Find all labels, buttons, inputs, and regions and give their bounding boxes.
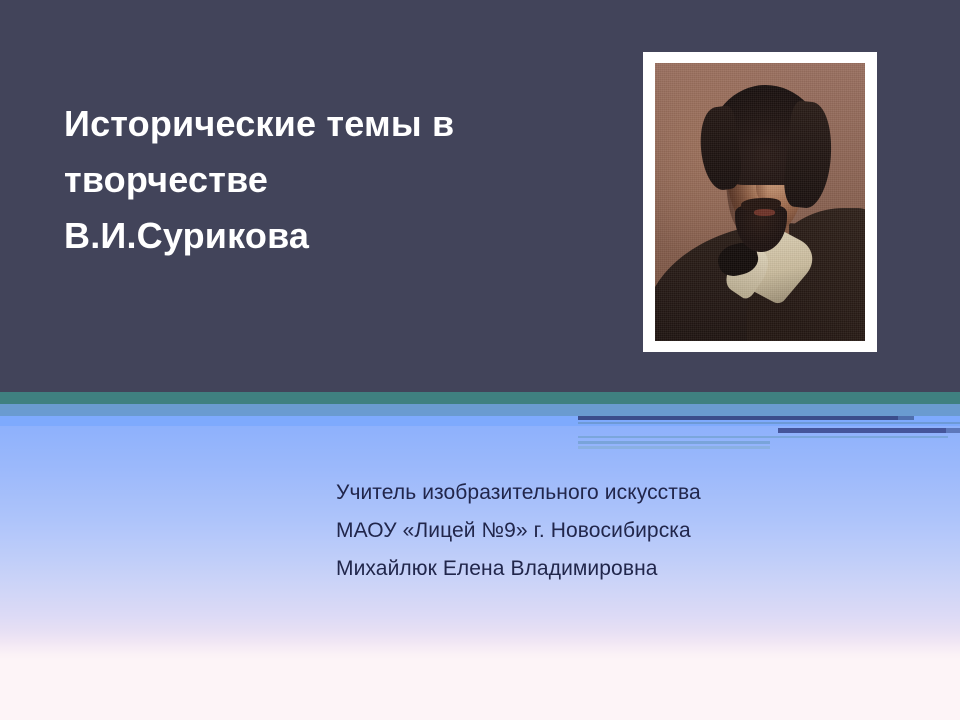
subtitle-line-2: МАОУ «Лицей №9» г. Новосибирска: [336, 512, 856, 550]
slide-subtitle: Учитель изобразительного искусства МАОУ …: [336, 474, 856, 588]
portrait-lips: [754, 209, 775, 216]
decorative-lines: [0, 392, 960, 452]
subtitle-line-3: Михайлюк Елена Владимировна: [336, 550, 856, 588]
decorative-line-1-tail: [898, 416, 914, 420]
decorative-line-3-tail: [946, 428, 960, 433]
portrait-frame: [643, 52, 877, 352]
portrait-hair-right: [782, 100, 837, 210]
portrait-self-portrait-surikov-image: [655, 63, 865, 341]
decorative-line-5: [578, 441, 770, 444]
presentation-slide: Исторические темы в творчестве В.И.Сурик…: [0, 0, 960, 720]
slide-title-line-2: творчестве: [64, 152, 594, 208]
slide-title: Исторические темы в творчестве В.И.Сурик…: [64, 96, 594, 264]
decorative-line-4: [578, 436, 948, 438]
decorative-line-1: [578, 416, 898, 420]
subtitle-line-1: Учитель изобразительного искусства: [336, 474, 856, 512]
slide-title-line-3: В.И.Сурикова: [64, 208, 594, 264]
slide-title-line-1: Исторические темы в: [64, 96, 594, 152]
decorative-line-6: [578, 446, 770, 449]
decorative-line-3: [778, 428, 946, 433]
decorative-line-2: [578, 422, 960, 424]
